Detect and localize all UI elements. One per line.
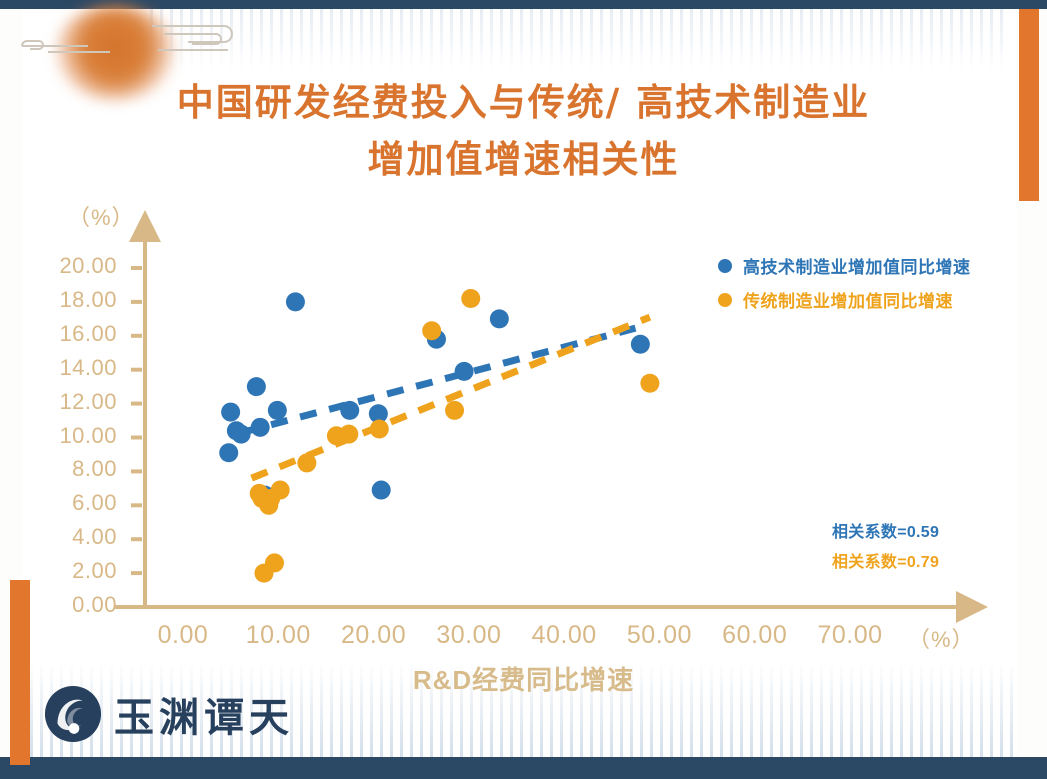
y-axis-unit-label: （%）: [68, 200, 135, 232]
y-axis-tick-label: 0.00: [27, 592, 117, 618]
wave-emblem-icon: [44, 685, 102, 743]
x-axis-tick-label: 30.00: [414, 621, 524, 650]
scatter-point: [640, 374, 659, 393]
scatter-point: [247, 377, 266, 396]
scatter-point: [221, 403, 240, 422]
y-axis-tick-label: 2.00: [27, 558, 117, 584]
x-axis-tick-label: 40.00: [509, 621, 619, 650]
scatter-point: [461, 289, 480, 308]
y-axis-tick-label: 16.00: [27, 321, 117, 347]
y-axis-tick-label: 8.00: [27, 456, 117, 482]
legend-item-1[interactable]: 传统制造业增加值同比增速: [718, 287, 971, 312]
scatter-point: [490, 309, 509, 328]
legend-item-label: 传统制造业增加值同比增速: [743, 287, 953, 312]
scatter-point: [445, 401, 464, 420]
scatter-point: [455, 362, 474, 381]
scatter-point: [422, 321, 441, 340]
scatter-point: [251, 418, 270, 437]
scatter-point: [372, 481, 391, 500]
y-axis-tick-label: 4.00: [27, 524, 117, 550]
scatter-point: [370, 420, 389, 439]
legend-item-0[interactable]: 高技术制造业增加值同比增速: [718, 253, 971, 278]
legend-marker-icon: [718, 259, 732, 273]
x-axis-tick-label: 50.00: [604, 621, 714, 650]
scatter-point: [339, 425, 358, 444]
y-axis-tick-label: 10.00: [27, 423, 117, 449]
brand-logo: 玉渊谭天: [44, 685, 294, 743]
x-axis-tick-label: 10.00: [223, 621, 333, 650]
slide-root: 中国研发经费投入与传统/ 高技术制造业 增加值增速相关性 0.002.004.0…: [0, 0, 1047, 779]
brand-logo-text: 玉渊谭天: [114, 685, 294, 743]
scatter-point: [265, 553, 284, 572]
scatter-point: [219, 443, 238, 462]
x-axis-tick-label: 0.00: [128, 621, 238, 650]
y-axis-tick-label: 18.00: [27, 287, 117, 313]
correlation-annotation-0: 相关系数=0.59: [832, 518, 939, 542]
scatter-point: [340, 401, 359, 420]
scatter-point: [297, 453, 316, 472]
y-axis-tick-label: 6.00: [27, 490, 117, 516]
x-axis-tick-label: 70.00: [795, 621, 905, 650]
correlation-annotations: 相关系数=0.59相关系数=0.79: [832, 518, 939, 578]
correlation-annotation-1: 相关系数=0.79: [832, 548, 939, 572]
scatter-point: [232, 425, 251, 444]
y-axis-tick-label: 20.00: [27, 253, 117, 279]
legend-item-label: 高技术制造业增加值同比增速: [743, 253, 971, 278]
scatter-point: [286, 292, 305, 311]
scatter-point: [271, 481, 290, 500]
x-axis-tick-label: 60.00: [700, 621, 810, 650]
scatter-point: [631, 335, 650, 354]
x-axis-unit-label: （%）: [908, 622, 975, 654]
chart-legend: 高技术制造业增加值同比增速传统制造业增加值同比增速: [718, 253, 971, 321]
legend-marker-icon: [718, 293, 732, 307]
x-axis-tick-label: 20.00: [319, 621, 429, 650]
scatter-point: [268, 401, 287, 420]
y-axis-tick-label: 14.00: [27, 355, 117, 381]
y-axis-tick-label: 12.00: [27, 389, 117, 415]
